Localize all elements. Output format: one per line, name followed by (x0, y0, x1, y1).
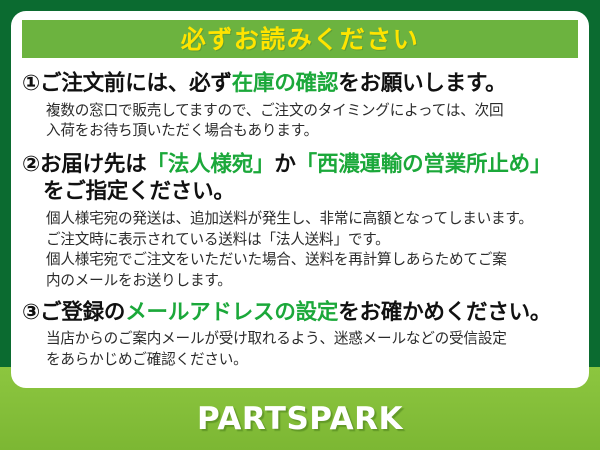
notice-item-1-head-text-a: ご注文前には、必ず (40, 71, 232, 96)
notice-item-2-body-line-3: 個人様宅宛でご注文をいただいた場合、送料を再計算しあらためてご案 (46, 250, 578, 271)
notice-list: ①ご注文前には、必ず在庫の確認をお願いします。 複数の窓口で販売してますので、ご… (22, 58, 578, 371)
notice-item-1-body-line-2: 入荷をお待ち頂いただく場合もあります。 (46, 121, 578, 142)
notice-item-2-body-line-1: 個人様宅宛の発送は、追加送料が発生し、非常に高額となってしまいます。 (46, 209, 578, 230)
notice-item-2-heading: ②お届け先は「法人様宛」か「西濃運輸の営業所止め」をご指定ください。 (22, 151, 578, 206)
notice-item-3-heading: ③ご登録のメールアドレスの設定をお確かめください。 (22, 299, 578, 327)
notice-item-2-body-line-2: ご注文時に表示されている送料は「法人送料」です。 (46, 230, 578, 251)
notice-item-2-head-line-2: をご指定ください。 (22, 178, 578, 206)
notice-item-3-body-line-2: をあらかじめご確認ください。 (46, 350, 578, 371)
notice-item-3-marker: ③ (22, 300, 40, 325)
notice-item-2-body: 個人様宅宛の発送は、追加送料が発生し、非常に高額となってしまいます。 ご注文時に… (22, 206, 578, 292)
notice-item-3-body-line-1: 当店からのご案内メールが受け取れるよう、迷惑メールなどの受信設定 (46, 329, 578, 350)
brand-name: PARTSPARK (197, 404, 403, 435)
notice-item-2-head-highlight-2: 「西濃運輸の営業所止め」 (296, 152, 552, 177)
header-bar: 必ずお読みください (22, 20, 578, 58)
notice-item-3-head-text-a: ご登録の (40, 300, 125, 325)
notice-item-1: ①ご注文前には、必ず在庫の確認をお願いします。 複数の窓口で販売してますので、ご… (22, 70, 578, 142)
notice-item-1-marker: ① (22, 71, 40, 96)
content-panel: 必ずお読みください ①ご注文前には、必ず在庫の確認をお願いします。 複数の窓口で… (11, 11, 589, 388)
notice-item-1-heading: ①ご注文前には、必ず在庫の確認をお願いします。 (22, 70, 578, 98)
notice-item-3-head-text-b: をお確かめください。 (338, 300, 551, 325)
notice-item-2-body-line-4: 内のメールをお送りします。 (46, 271, 578, 292)
notice-item-2: ②お届け先は「法人様宛」か「西濃運輸の営業所止め」をご指定ください。 個人様宅宛… (22, 151, 578, 292)
notice-item-2-marker: ② (22, 152, 40, 177)
notice-item-1-body: 複数の窓口で販売してますので、ご注文のタイミングによっては、次回 入荷をお待ち頂… (22, 98, 578, 142)
notice-item-2-head-highlight: 「法人様宛」 (147, 152, 275, 177)
notice-item-3-head-highlight: メールアドレスの設定 (125, 300, 338, 325)
notice-item-3: ③ご登録のメールアドレスの設定をお確かめください。 当店からのご案内メールが受け… (22, 299, 578, 371)
header-title: 必ずお読みください (181, 27, 420, 52)
notice-item-2-head-text-b: か (274, 152, 295, 177)
notice-banner: 必ずお読みください ①ご注文前には、必ず在庫の確認をお願いします。 複数の窓口で… (0, 0, 600, 450)
notice-item-1-head-text-b: をお願いします。 (338, 71, 506, 96)
panel-inner: 必ずお読みください ①ご注文前には、必ず在庫の確認をお願いします。 複数の窓口で… (22, 20, 578, 388)
notice-item-2-head-text-a: お届け先は (40, 152, 147, 177)
notice-item-3-body: 当店からのご案内メールが受け取れるよう、迷惑メールなどの受信設定 をあらかじめご… (22, 326, 578, 370)
brand-footer: PARTSPARK (0, 388, 600, 450)
notice-item-1-body-line-1: 複数の窓口で販売してますので、ご注文のタイミングによっては、次回 (46, 101, 578, 122)
notice-item-1-head-highlight: 在庫の確認 (232, 71, 339, 96)
